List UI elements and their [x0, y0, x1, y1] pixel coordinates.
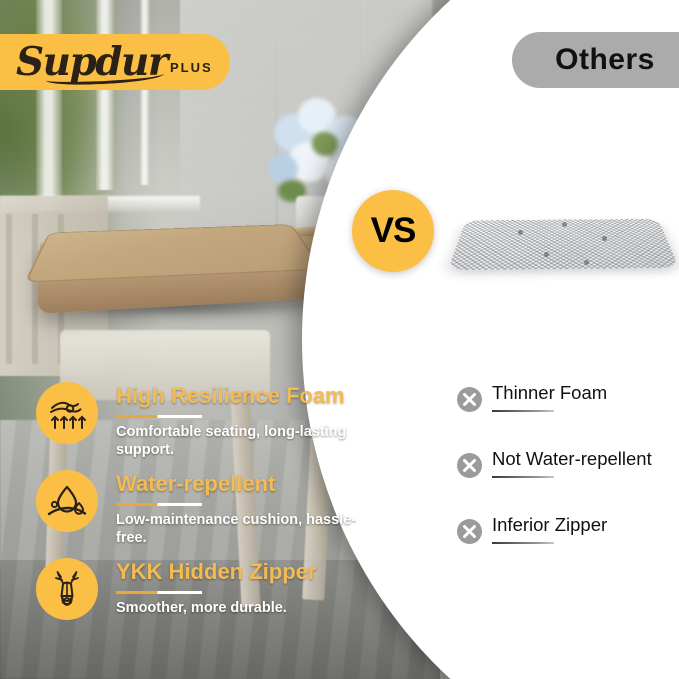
pro-title: High Resilience Foam: [116, 384, 378, 408]
pro-divider: [116, 503, 202, 506]
vs-badge: VS: [352, 190, 434, 272]
con-item-not-water-repellent: Not Water-repellent: [452, 448, 678, 514]
pro-text-block: YKK Hidden Zipper Smoother, more durable…: [116, 560, 378, 618]
con-title: Thinner Foam: [492, 382, 679, 403]
pro-divider: [116, 591, 202, 594]
pro-item-ykk-hidden-zipper: YKK Hidden Zipper Smoother, more durable…: [30, 554, 380, 642]
brand-logo: Supdur PLUS: [16, 43, 213, 82]
con-divider: [492, 410, 554, 412]
others-label: Others: [555, 43, 655, 77]
con-text-block: Thinner Foam: [492, 382, 679, 412]
circle-x-icon: [456, 386, 483, 413]
con-title: Inferior Zipper: [492, 514, 679, 535]
pro-subtitle: Smoother, more durable.: [116, 600, 378, 617]
pro-item-high-resilience-foam: High Resilience Foam Comfortable seating…: [30, 378, 380, 466]
porch-post: [36, 0, 62, 210]
pro-subtitle: Comfortable seating, long-lasting suppor…: [116, 424, 378, 459]
con-item-thinner-foam: Thinner Foam: [452, 382, 678, 448]
pro-text-block: Water-repellent Low-maintenance cushion,…: [116, 472, 378, 547]
pros-list: High Resilience Foam Comfortable seating…: [30, 378, 380, 642]
brand-logo-banner: Supdur PLUS: [0, 34, 230, 90]
pro-item-water-repellent: Water-repellent Low-maintenance cushion,…: [30, 466, 380, 554]
pro-title: Water-repellent: [116, 472, 378, 496]
hand-press-resilience-icon: [36, 382, 98, 444]
porch-post: [140, 0, 150, 185]
circle-x-icon: [456, 518, 483, 545]
circle-x-icon: [456, 452, 483, 479]
brand-plus-text: PLUS: [170, 60, 213, 75]
vs-label: VS: [371, 211, 416, 251]
pro-title: YKK Hidden Zipper: [116, 560, 378, 584]
pro-subtitle: Low-maintenance cushion, hassle-free.: [116, 512, 378, 547]
porch-post: [96, 0, 114, 190]
cons-list: Thinner Foam Not Water-repellent: [452, 382, 678, 580]
water-droplet-repellent-icon: [36, 470, 98, 532]
con-item-inferior-zipper: Inferior Zipper: [452, 514, 678, 580]
con-text-block: Inferior Zipper: [492, 514, 679, 544]
con-divider: [492, 476, 554, 478]
con-divider: [492, 542, 554, 544]
hero-product-cushion: [28, 180, 338, 310]
con-title: Not Water-repellent: [492, 448, 679, 469]
others-banner: Others: [512, 32, 679, 88]
competitor-product-cushion: [452, 186, 674, 304]
con-text-block: Not Water-repellent: [492, 448, 679, 478]
zipper-icon: [36, 558, 98, 620]
pro-divider: [116, 415, 202, 418]
pro-text-block: High Resilience Foam Comfortable seating…: [116, 384, 378, 459]
comparison-infographic: Supdur PLUS Others VS: [0, 0, 679, 679]
